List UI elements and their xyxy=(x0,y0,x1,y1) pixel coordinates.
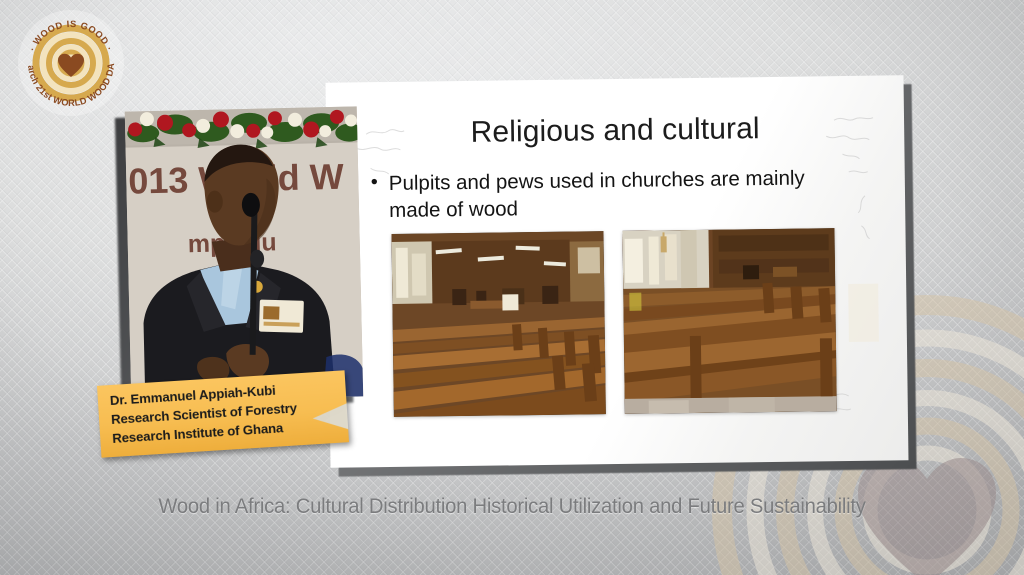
presentation-video-frame: · WOOD IS GOOD · March 21st WORLD WOOD D… xyxy=(0,0,1024,575)
world-wood-day-logo-icon: · WOOD IS GOOD · March 21st WORLD WOOD D… xyxy=(16,8,126,118)
bullet-marker-icon: • xyxy=(371,169,378,196)
church-interior-pews-2-image xyxy=(622,228,836,414)
presentation-slide: Religious and cultural • Pulpits and pew… xyxy=(326,75,909,468)
church-interior-pews-1-image xyxy=(391,231,605,417)
slide-title: Religious and cultural xyxy=(326,110,904,152)
slide-image-row xyxy=(391,228,836,417)
presentation-caption: Wood in Africa: Cultural Distribution Hi… xyxy=(31,494,994,519)
speaker-photo: 013 World W mposiu n Afr ili xyxy=(125,106,364,401)
slide-bullet-item: • Pulpits and pews used in churches are … xyxy=(389,164,854,225)
slide-bullet-text: Pulpits and pews used in churches are ma… xyxy=(389,167,805,223)
speaker-photo-image: 013 World W mposiu n Afr ili xyxy=(125,106,364,401)
